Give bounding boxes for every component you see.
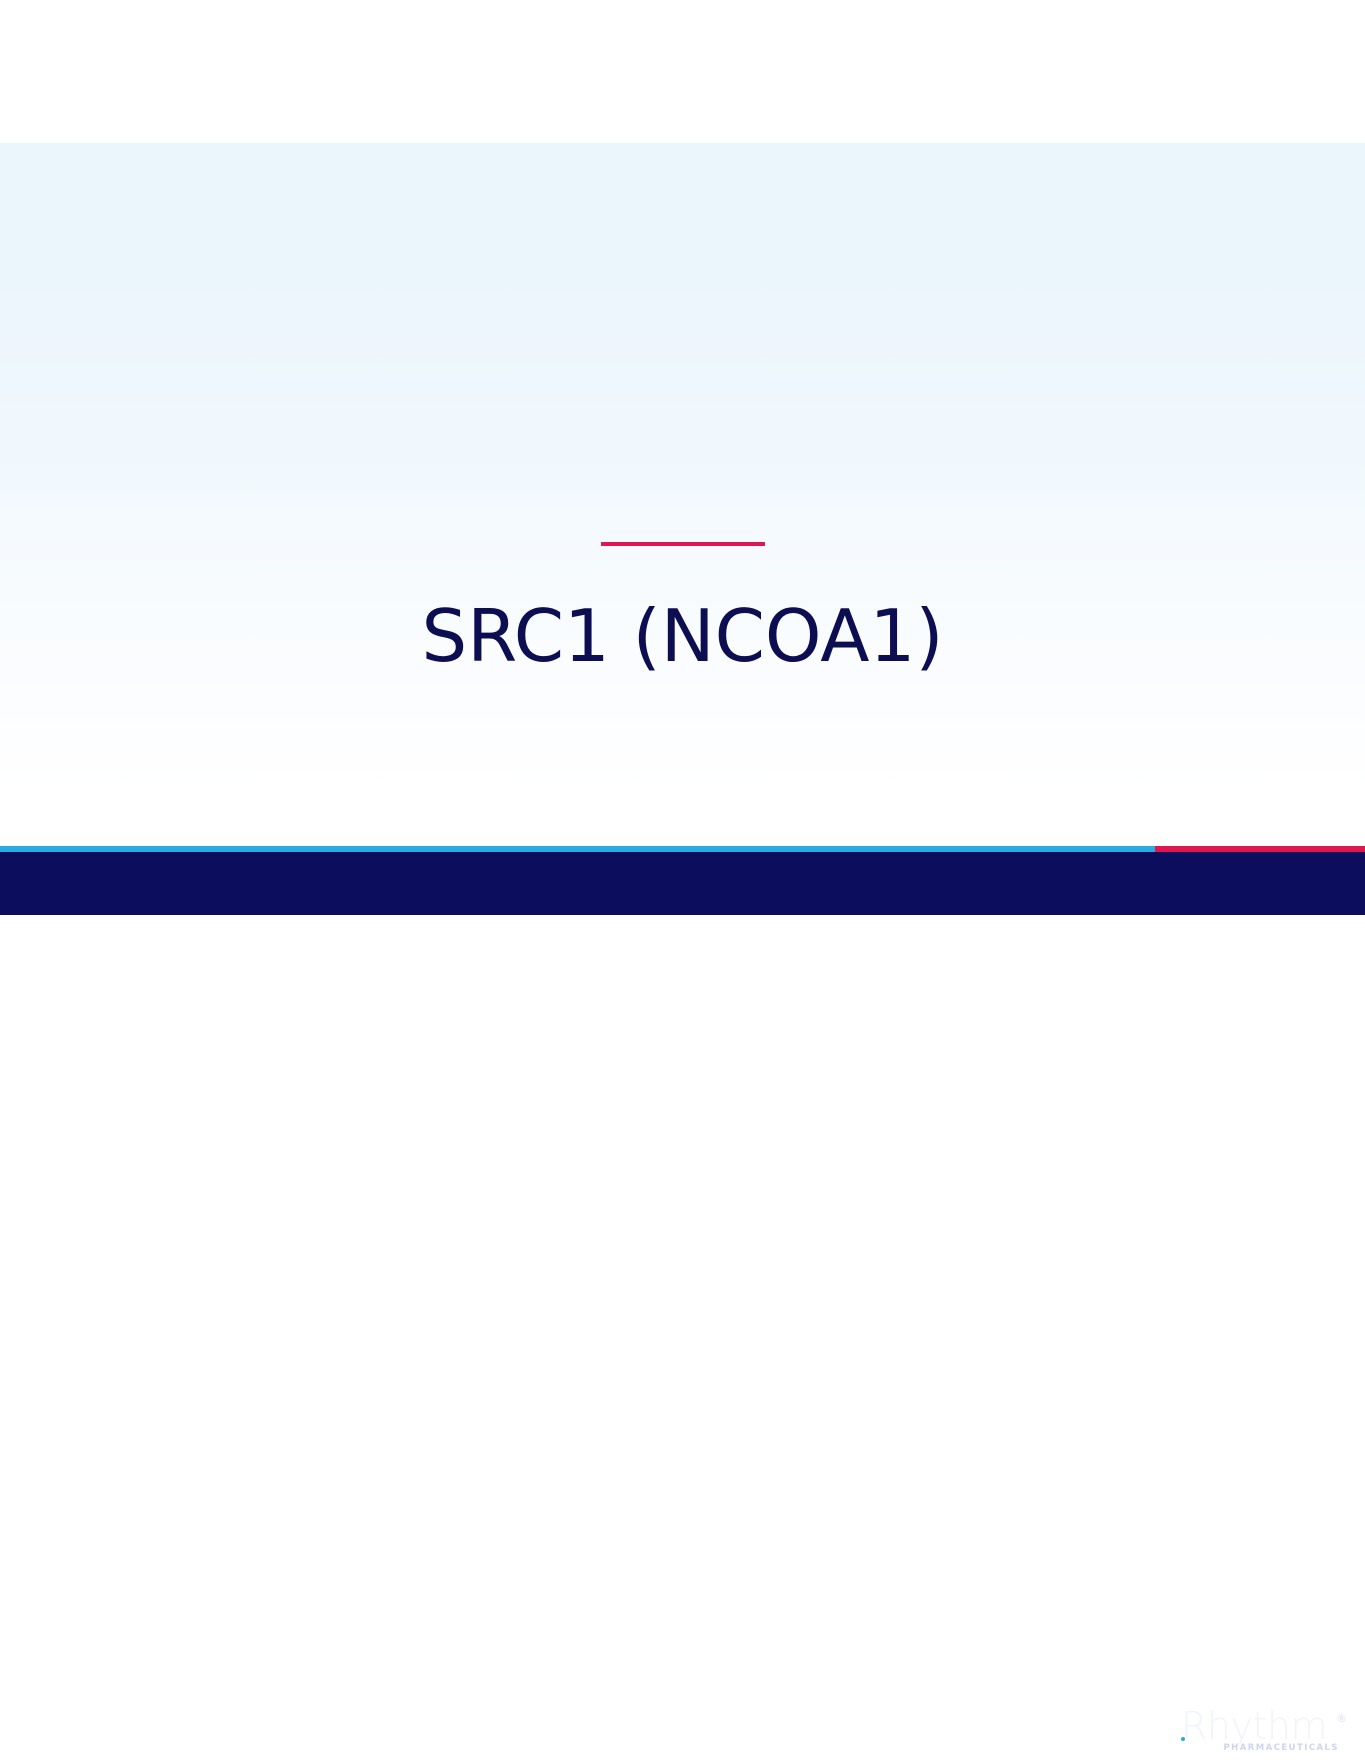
slide-canvas: SRC1 (NCOA1) 20 Rhythm ® PHARMACEUTICALS	[0, 0, 1365, 1055]
logo-wordmark-row: Rhythm ®	[1175, 1710, 1353, 1746]
page-title: SRC1 (NCOA1)	[0, 598, 1365, 676]
footer-bar: 20 Rhythm ® PHARMACEUTICALS	[0, 852, 1365, 915]
rhythm-logo-dot-icon	[1181, 1737, 1185, 1741]
slide-content-panel: SRC1 (NCOA1)	[0, 143, 1365, 846]
page-number: 20	[57, 1723, 79, 1743]
registered-trademark-icon: ®	[1336, 1713, 1347, 1724]
logo-wordmark: Rhythm	[1181, 1706, 1327, 1746]
rhythm-logo: Rhythm ® PHARMACEUTICALS	[1175, 1710, 1353, 1762]
title-accent-rule	[601, 542, 765, 546]
logo-subtext: PHARMACEUTICALS	[1175, 1743, 1353, 1753]
